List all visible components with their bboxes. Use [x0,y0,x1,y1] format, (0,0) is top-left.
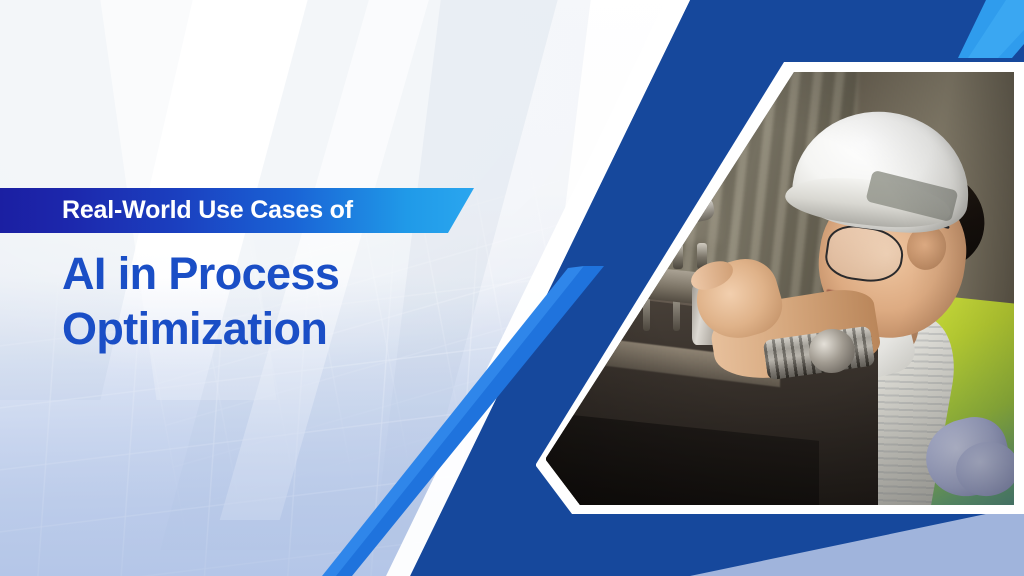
hero-photo [536,62,1024,514]
eyebrow-text: Real-World Use Cases of [62,188,353,233]
promo-banner: Real-World Use Cases of AI in Process Op… [0,0,1024,576]
page-title: AI in Process Optimization [62,247,532,357]
headline-line-1: AI in Process [62,247,532,302]
headline-line-2: Optimization [62,302,532,357]
engineer-inspecting-machine-image [536,62,1024,514]
photo-clip [536,62,1024,514]
eyebrow-ribbon: Real-World Use Cases of [0,188,474,233]
